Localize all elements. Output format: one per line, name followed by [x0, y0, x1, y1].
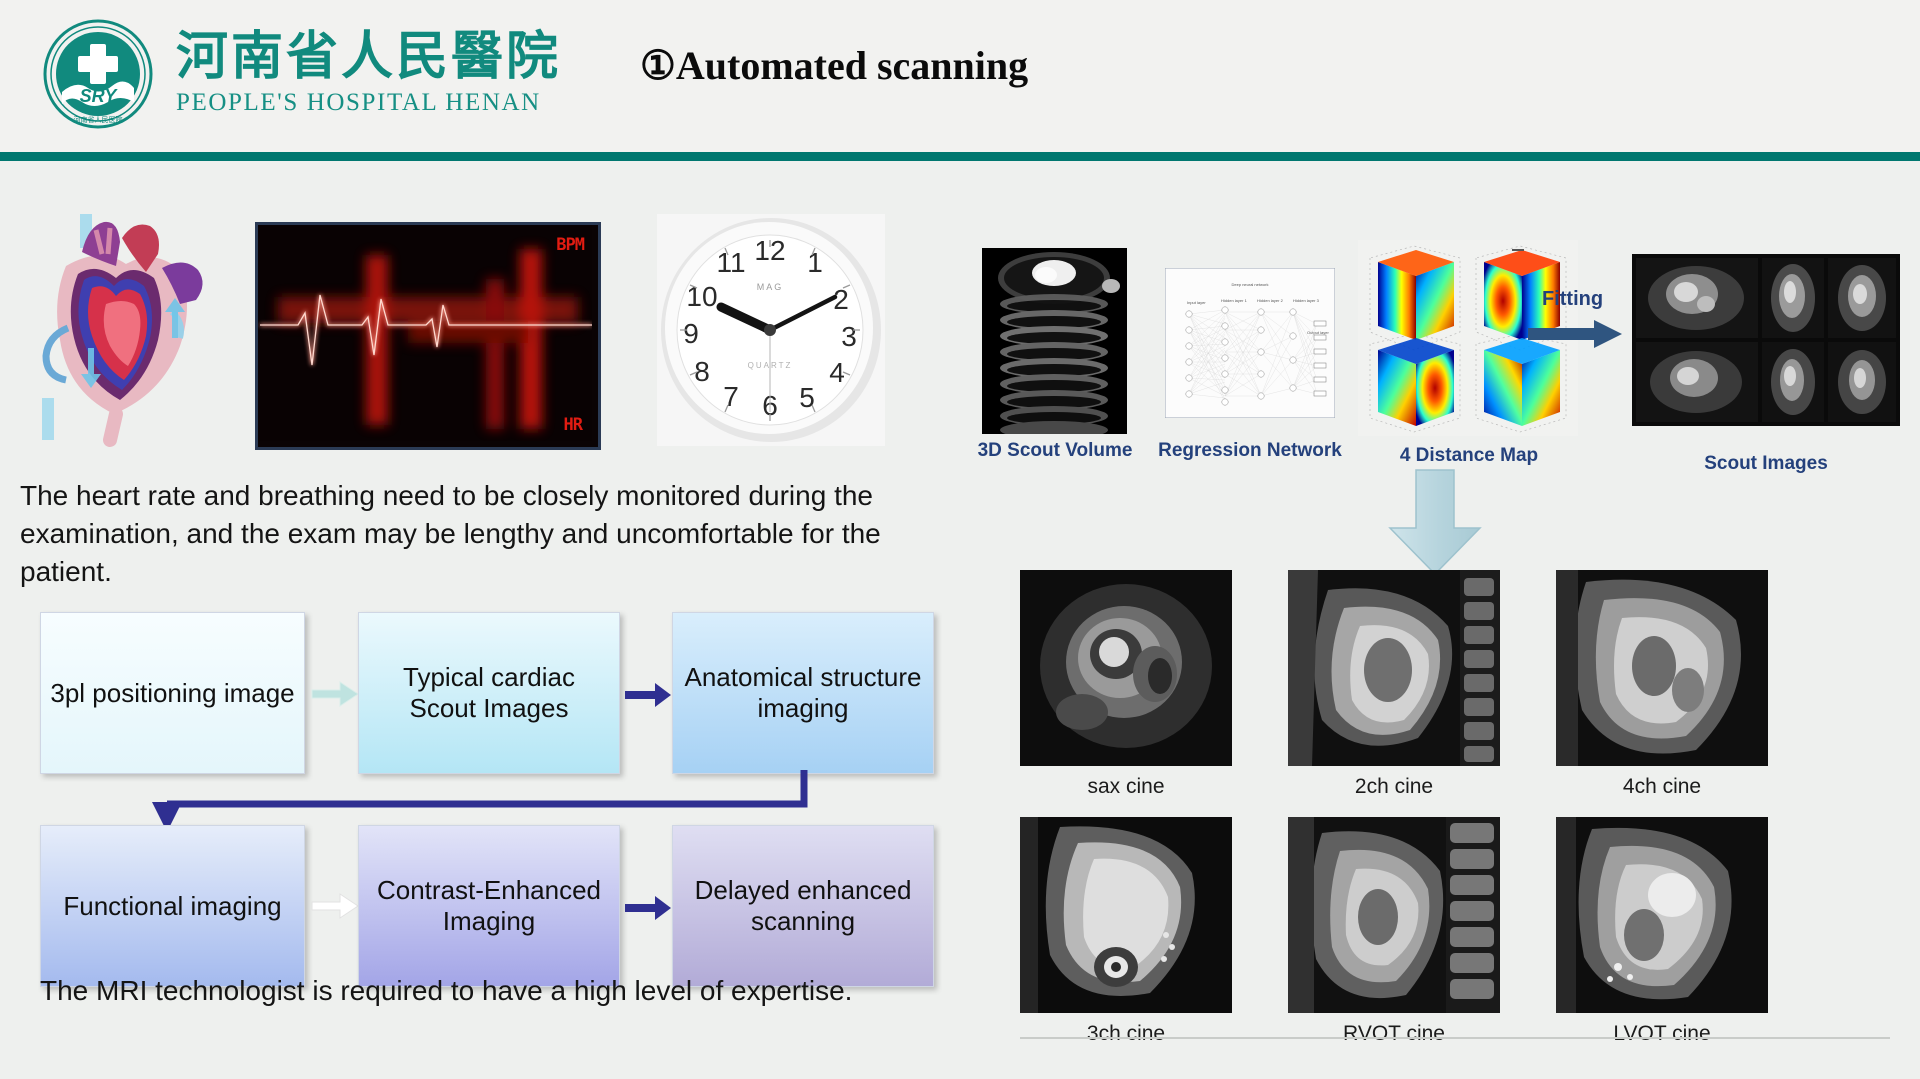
cine-image — [1020, 570, 1232, 766]
fitting-label: Fitting — [1542, 288, 1603, 311]
cine-cell-lvot[interactable]: LVOT cine — [1556, 817, 1768, 1046]
cine-caption: LVOT cine — [1556, 1022, 1768, 1046]
svg-text:1: 1 — [807, 247, 823, 278]
pipeline-label-scout-images: Scout Images — [1632, 453, 1900, 475]
cine-caption: 2ch cine — [1288, 775, 1500, 799]
cine-caption: 4ch cine — [1556, 775, 1768, 799]
ecg-bpm-label: BPM — [556, 235, 584, 255]
nn-title: Deep neural network — [1232, 282, 1269, 287]
svg-text:4: 4 — [829, 357, 845, 388]
flow-box-label: Functional imaging — [63, 891, 281, 922]
nn-layer-label: Hidden layer 3 — [1293, 298, 1320, 303]
cine-cell-rvot[interactable]: RVOT cine — [1288, 817, 1500, 1046]
clock-brand: MAG — [757, 282, 784, 292]
svg-text:12: 12 — [754, 235, 785, 266]
scout-images-montage — [1632, 254, 1900, 431]
logo-svg: SRY 河南省人民医院 — [42, 18, 154, 130]
svg-text:SRY: SRY — [80, 86, 119, 106]
svg-text:5: 5 — [799, 382, 815, 413]
flow-box-delayed-enhanced-scanning[interactable]: Delayed enhanced scanning — [672, 825, 934, 987]
flow-box-label: Delayed enhanced scanning — [681, 875, 925, 936]
pipeline-label-4-distance-map: 4 Distance Map — [1360, 445, 1578, 467]
heart-anatomy-illustration — [22, 208, 234, 448]
nn-layer-label: Hidden layer 2 — [1257, 298, 1284, 303]
cine-image — [1556, 817, 1768, 1013]
cine-caption: 3ch cine — [1020, 1022, 1232, 1046]
cine-image-grid: sax cine 2ch cine — [1020, 570, 1900, 1050]
pipeline-label-regression-network: Regression Network — [1145, 440, 1355, 462]
flow-box-label: Typical cardiac Scout Images — [367, 662, 611, 723]
analog-wall-clock: 12 1 2 3 4 5 6 7 8 9 10 11 MAG QUARTZ — [657, 214, 885, 446]
nn-layer-label: Hidden layer 1 — [1221, 298, 1248, 303]
deep-neural-network-diagram: Deep neural network Input layer Hidden l… — [1165, 268, 1335, 423]
flow-box-contrast-enhanced-imaging[interactable]: Contrast-Enhanced Imaging — [358, 825, 620, 987]
arrow-1-to-2 — [310, 678, 362, 712]
flow-box-label: Anatomical structure imaging — [681, 662, 925, 723]
arrow-2-to-3 — [625, 680, 673, 710]
automated-scanning-pipeline: Deep neural network Input layer Hidden l… — [960, 240, 1920, 460]
workflow-flowchart: 3pl positioning image Typical cardiac Sc… — [0, 600, 980, 1000]
cine-image — [1020, 817, 1232, 1013]
flow-box-functional-imaging[interactable]: Functional imaging — [40, 825, 305, 987]
cine-cell-sax[interactable]: sax cine — [1020, 570, 1232, 799]
svg-text:2: 2 — [833, 284, 849, 315]
ecg-waveform-monitor: BPM HR — [255, 222, 601, 450]
cine-cell-4ch[interactable]: 4ch cine — [1556, 570, 1768, 799]
ecg-hr-label: HR — [564, 415, 582, 435]
intro-paragraph: The heart rate and breathing need to be … — [20, 477, 980, 591]
fitting-arrow — [1528, 318, 1626, 352]
scout-volume-stack — [982, 248, 1127, 439]
hospital-circle-logo: SRY 河南省人民医院 — [42, 18, 154, 130]
svg-text:7: 7 — [723, 381, 739, 412]
hospital-name-cn: 河南省人民醫院 — [176, 31, 561, 86]
arrow-4-to-5 — [310, 890, 362, 924]
flow-box-typical-cardiac-scout-images[interactable]: Typical cardiac Scout Images — [358, 612, 620, 774]
flow-box-label: 3pl positioning image — [50, 678, 294, 709]
cine-caption: RVOT cine — [1288, 1022, 1500, 1046]
svg-text:9: 9 — [683, 318, 699, 349]
header-divider — [0, 152, 1920, 161]
hospital-name-en: PEOPLE'S HOSPITAL HENAN — [176, 89, 561, 117]
cine-cell-3ch[interactable]: 3ch cine — [1020, 817, 1232, 1046]
svg-text:11: 11 — [716, 247, 745, 278]
arrow-5-to-6 — [625, 893, 673, 923]
flow-box-anatomical-structure-imaging[interactable]: Anatomical structure imaging — [672, 612, 934, 774]
hospital-logo: SRY 河南省人民医院 河南省人民醫院 PEOPLE'S HOSPITAL HE… — [42, 18, 561, 130]
cine-image — [1288, 817, 1500, 1013]
hospital-name-block: 河南省人民醫院 PEOPLE'S HOSPITAL HENAN — [176, 31, 561, 118]
cine-image — [1288, 570, 1500, 766]
slide-header: SRY 河南省人民医院 河南省人民醫院 PEOPLE'S HOSPITAL HE… — [0, 0, 1920, 155]
cine-grid-underline — [1020, 1037, 1890, 1039]
flow-box-3pl-positioning-image[interactable]: 3pl positioning image — [40, 612, 305, 774]
cine-image — [1556, 570, 1768, 766]
large-down-arrow — [1380, 468, 1490, 578]
cine-cell-2ch[interactable]: 2ch cine — [1288, 570, 1500, 799]
cine-caption: sax cine — [1020, 775, 1232, 799]
page-title: ①Automated scanning — [640, 42, 1028, 89]
closing-paragraph: The MRI technologist is required to have… — [40, 975, 852, 1007]
pipeline-label-3d-scout-volume: 3D Scout Volume — [960, 440, 1150, 462]
flow-box-label: Contrast-Enhanced Imaging — [367, 875, 611, 936]
svg-text:3: 3 — [841, 321, 857, 352]
nn-layer-label: Input layer — [1187, 300, 1206, 305]
svg-text:河南省人民医院: 河南省人民医院 — [74, 115, 123, 124]
